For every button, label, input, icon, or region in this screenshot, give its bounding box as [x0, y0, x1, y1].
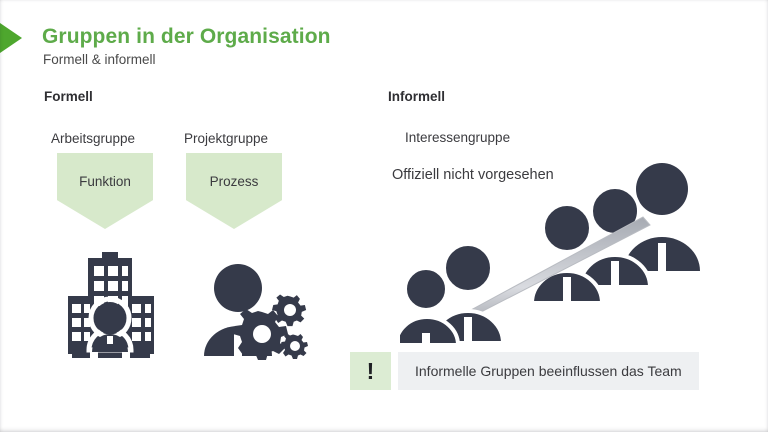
pentagon-shape-prozess: Prozess — [186, 153, 282, 229]
column-heading-informell: Informell — [388, 89, 445, 104]
page-title: Gruppen in der Organisation — [42, 25, 331, 49]
exclamation-glyph: ! — [367, 360, 375, 383]
callout-text: Informelle Gruppen beeinflussen das Team — [415, 363, 682, 379]
column-heading-formell: Formell — [44, 89, 93, 104]
callout-banner: ! Informelle Gruppen beeinflussen das Te… — [350, 352, 699, 390]
triangle-right-icon — [0, 23, 22, 53]
building-with-person-icon — [62, 252, 170, 362]
people-group-ascending-icon — [400, 155, 718, 345]
exclamation-icon: ! — [350, 352, 391, 390]
group-label-arbeitsgruppe: Arbeitsgruppe — [51, 131, 135, 146]
group-label-projektgruppe: Projektgruppe — [184, 131, 268, 146]
page-subtitle: Formell & informell — [43, 52, 156, 67]
pentagon-label-funktion: Funktion — [57, 174, 153, 189]
person-with-gears-icon — [200, 262, 310, 360]
callout-text-box: Informelle Gruppen beeinflussen das Team — [398, 352, 699, 390]
pentagon-shape-funktion: Funktion — [57, 153, 153, 229]
informal-line-interessengruppe: Interessengruppe — [405, 130, 510, 145]
pentagon-label-prozess: Prozess — [186, 174, 282, 189]
slide-canvas: Gruppen in der Organisation Formell & in… — [0, 0, 768, 432]
